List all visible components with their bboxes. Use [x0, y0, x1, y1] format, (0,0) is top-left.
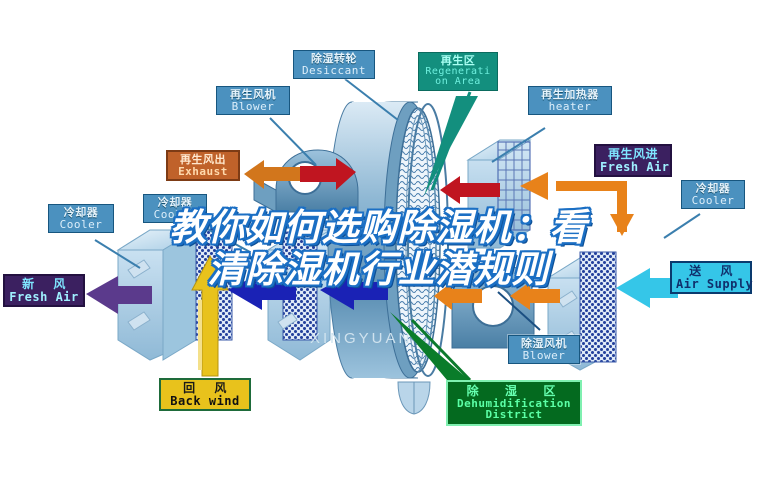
callout-en-text: Dehumidification District	[452, 398, 576, 421]
callout-cn-text: 回 风	[165, 382, 245, 395]
diagram-artwork	[0, 0, 757, 488]
callout-back-wind[interactable]: 回 风 Back wind	[159, 378, 251, 411]
arrow-air-supply-cyan	[616, 268, 678, 308]
callout-en-text: Cooler	[53, 219, 109, 231]
callout-cn-text: 冷却器	[53, 207, 109, 219]
callout-en-text: Blower	[513, 350, 575, 362]
callout-cn-text: 除 湿 区	[452, 385, 576, 398]
callout-en-text: Cooler	[148, 209, 202, 221]
callout-cn-text: 冷却器	[148, 197, 202, 209]
callout-en-text: Back wind	[165, 395, 245, 408]
watermark-text: XINGYUAN	[310, 330, 412, 347]
callout-en-text: Blower	[221, 101, 285, 113]
callout-fresh-air-right[interactable]: 再生风进 Fresh Air	[594, 144, 672, 177]
callout-en-text: Desiccant	[298, 65, 370, 77]
callout-en-text: Fresh Air	[9, 291, 79, 304]
desiccant-rotor-wheel	[328, 102, 448, 414]
callout-dehum-blower[interactable]: 除湿风机 Blower	[508, 335, 580, 364]
callout-cooler-right[interactable]: 冷却器 Cooler	[681, 180, 745, 209]
arrow-fresh-air-orange	[556, 186, 622, 232]
callout-cn-text: 再生风机	[221, 89, 285, 101]
callout-fresh-air-left[interactable]: 新 风 Fresh Air	[3, 274, 85, 307]
callout-cn-text: 再生加热器	[533, 89, 607, 101]
callout-cooler-left-2[interactable]: 冷却器 Cooler	[143, 194, 207, 223]
callout-en-text: Exhaust	[172, 166, 234, 178]
callout-cooler-left-1[interactable]: 冷却器 Cooler	[48, 204, 114, 233]
callout-regeneration-area[interactable]: 再生区 Regenerati on Area	[418, 52, 498, 91]
callout-regen-exhaust[interactable]: 再生风出 Exhaust	[166, 150, 240, 181]
callout-air-supply[interactable]: 送 风 Air Supply	[670, 261, 752, 294]
callout-en-text: Regenerati on Area	[423, 67, 493, 88]
callout-regen-blower[interactable]: 再生风机 Blower	[216, 86, 290, 115]
callout-cn-text: 新 风	[9, 278, 79, 291]
callout-cn-text: 再生区	[423, 55, 493, 67]
callout-cn-text: 冷却器	[686, 183, 740, 195]
callout-cn-text: 再生风出	[172, 154, 234, 166]
callout-cn-text: 除湿风机	[513, 338, 575, 350]
callout-cn-text: 送 风	[676, 265, 746, 278]
callout-en-text: Fresh Air	[600, 161, 666, 174]
callout-cn-text: 除湿转轮	[298, 53, 370, 65]
callout-en-text: Air Supply	[676, 278, 746, 291]
dehumidifier-diagram: 除湿转轮 Desiccant 再生风机 Blower 再生风出 Exhaust …	[0, 0, 757, 488]
callout-en-text: Cooler	[686, 195, 740, 207]
callout-desiccant-rotor[interactable]: 除湿转轮 Desiccant	[293, 50, 375, 79]
callout-cn-text: 再生风进	[600, 148, 666, 161]
callout-regen-heater[interactable]: 再生加热器 heater	[528, 86, 612, 115]
callout-en-text: heater	[533, 101, 607, 113]
callout-dehum-district[interactable]: 除 湿 区 Dehumidification District	[446, 380, 582, 426]
